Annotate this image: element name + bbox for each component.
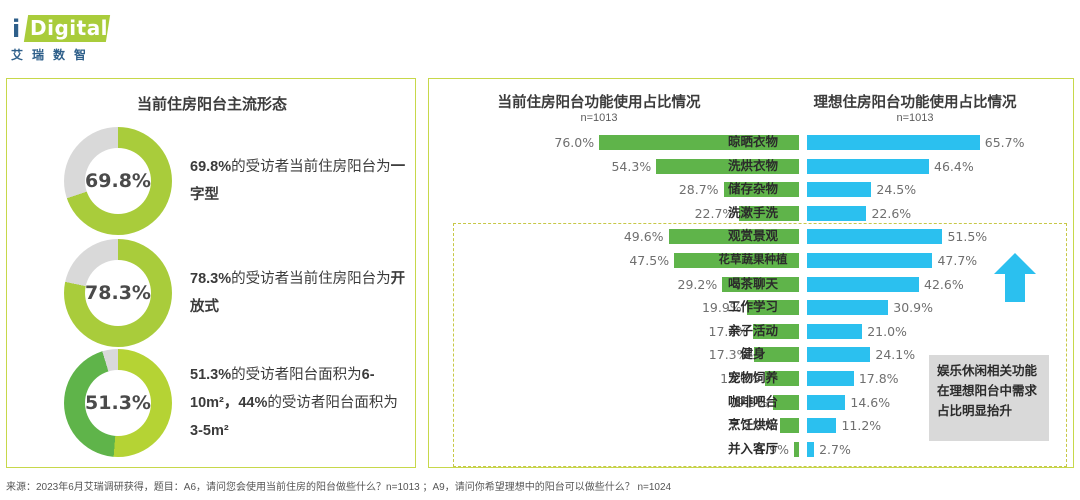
left-panel: 当前住房阳台主流形态 69.8%69.8%的受访者当前住房阳台为一字型78.3%… (6, 78, 416, 468)
bar-ideal (807, 442, 814, 457)
right-panel: 当前住房阳台功能使用占比情况 n=1013 理想住房阳台功能使用占比情况 n=1… (428, 78, 1074, 468)
bar-ideal (807, 277, 919, 292)
logo-i-mark: i (12, 17, 20, 41)
donut-row: 51.3%51.3%的受访者阳台面积为6-10m²，44%的受访者阳台面积为3-… (7, 347, 417, 459)
bar-value-ideal: 30.9% (893, 296, 933, 319)
bar-value-ideal: 22.6% (871, 202, 911, 225)
bar-value-ideal: 24.1% (875, 343, 915, 366)
bar-row: 47.5%花草蔬果种植47.7% (429, 249, 1075, 272)
donut-description: 78.3%的受访者当前住房阳台为开放式 (190, 265, 410, 321)
bar-row: 49.6%观赏景观51.5% (429, 225, 1075, 248)
bar-value-current: 54.3% (591, 155, 651, 178)
callout-note: 娱乐休闲相关功能在理想阳台中需求占比明显抬升 (929, 355, 1049, 441)
bar-row: 28.7%储存杂物24.5% (429, 178, 1075, 201)
bar-value-ideal: 46.4% (934, 155, 974, 178)
bar-value-ideal: 51.5% (947, 225, 987, 248)
bar-row: 17.4%亲子活动21.0% (429, 320, 1075, 343)
bar-category-label: 花草蔬果种植 (705, 249, 801, 272)
bar-category-label: 并入客厅 (705, 438, 801, 461)
bar-category-label: 喝茶聊天 (705, 273, 801, 296)
bar-value-ideal: 24.5% (876, 178, 916, 201)
bar-category-label: 观赏景观 (705, 225, 801, 248)
bar-value-ideal: 47.7% (937, 249, 977, 272)
donut-value-label: 69.8% (64, 170, 172, 192)
bar-row: 1.9%并入客厅2.7% (429, 438, 1075, 461)
infographic-root: i Digital 艾瑞数智 当前住房阳台主流形态 69.8%69.8%的受访者… (0, 0, 1080, 500)
bar-ideal (807, 159, 929, 174)
bar-category-label: 工作学习 (705, 296, 801, 319)
bar-ideal (807, 324, 862, 339)
source-footnote: 来源：2023年6月艾瑞调研获得，题目：A6，请问您会使用当前住房的阳台做些什么… (6, 478, 671, 493)
donut-ring: 78.3% (64, 239, 172, 347)
left-panel-title: 当前住房阳台主流形态 (7, 93, 417, 114)
donut-row: 78.3%78.3%的受访者当前住房阳台为开放式 (7, 237, 417, 349)
bar-category-label: 晾晒衣物 (705, 131, 801, 154)
bar-ideal (807, 371, 854, 386)
donut-ring: 51.3% (64, 349, 172, 457)
bar-value-ideal: 21.0% (867, 320, 907, 343)
donut-ring: 69.8% (64, 127, 172, 235)
bar-category-label: 宠物饲养 (705, 367, 801, 390)
bar-value-ideal: 17.8% (859, 367, 899, 390)
bar-ideal (807, 229, 942, 244)
bar-row: 29.2%喝茶聊天42.6% (429, 273, 1075, 296)
donut-value-label: 78.3% (64, 282, 172, 304)
bar-ideal (807, 395, 845, 410)
up-arrow-icon (993, 251, 1037, 303)
bar-value-current: 47.5% (609, 249, 669, 272)
bar-category-label: 健身 (705, 343, 801, 366)
donut-description: 51.3%的受访者阳台面积为6-10m²，44%的受访者阳台面积为3-5m² (190, 361, 410, 445)
bar-category-label: 咖啡吧台 (705, 391, 801, 414)
bar-row: 54.3%洗烘衣物46.4% (429, 155, 1075, 178)
bar-value-ideal: 11.2% (841, 414, 881, 437)
logo-chinese-name: 艾瑞数智 (11, 46, 95, 63)
bar-ideal (807, 206, 866, 221)
donut-description: 69.8%的受访者当前住房阳台为一字型 (190, 153, 410, 209)
donut-row: 69.8%69.8%的受访者当前住房阳台为一字型 (7, 125, 417, 237)
bar-category-label: 储存杂物 (705, 178, 801, 201)
bar-ideal (807, 182, 871, 197)
donut-value-label: 51.3% (64, 392, 172, 414)
brand-logo: i Digital 艾瑞数智 (8, 10, 138, 62)
bar-value-ideal: 42.6% (924, 273, 964, 296)
bar-value-ideal: 2.7% (819, 438, 851, 461)
bar-value-ideal: 14.6% (850, 391, 890, 414)
bar-category-label: 洗漱手洗 (705, 202, 801, 225)
bar-ideal (807, 347, 870, 362)
bar-value-current: 49.6% (604, 225, 664, 248)
bar-category-label: 烹饪烘焙 (705, 414, 801, 437)
bar-row: 19.9%工作学习30.9% (429, 296, 1075, 319)
bar-category-label: 亲子活动 (705, 320, 801, 343)
bar-value-current: 76.0% (534, 131, 594, 154)
bar-row: 22.7%洗漱手洗22.6% (429, 202, 1075, 225)
bar-ideal (807, 253, 932, 268)
bar-row: 76.0%晾晒衣物65.7% (429, 131, 1075, 154)
logo-wordmark: Digital (30, 17, 108, 39)
bar-ideal (807, 300, 888, 315)
bar-category-label: 洗烘衣物 (705, 155, 801, 178)
bar-ideal (807, 135, 980, 150)
bar-value-ideal: 65.7% (985, 131, 1025, 154)
bar-ideal (807, 418, 836, 433)
